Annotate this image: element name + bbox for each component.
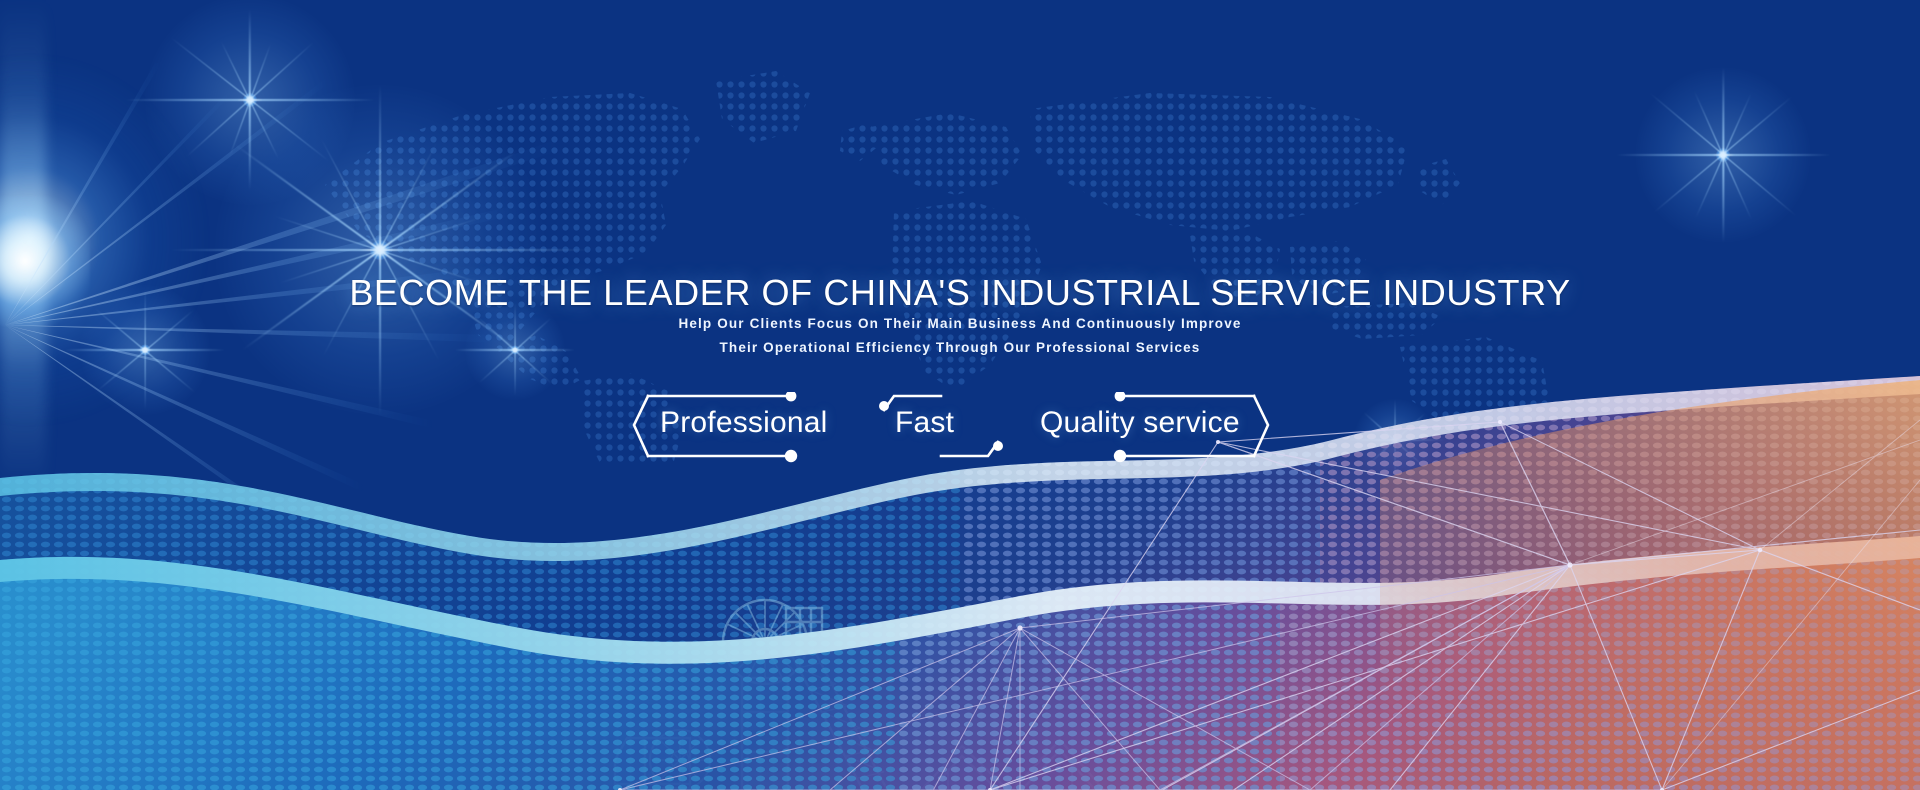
subtitle: Help Our Clients Focus On Their Main Bus… bbox=[0, 312, 1920, 360]
subtitle-line-2: Their Operational Efficiency Through Our… bbox=[0, 336, 1920, 360]
bracket-dot bbox=[993, 441, 1003, 451]
hex-bracket-right-chevron bbox=[1254, 396, 1268, 456]
subtitle-line-1: Help Our Clients Focus On Their Main Bus… bbox=[0, 312, 1920, 336]
bracket-dot bbox=[786, 392, 797, 401]
hex-bracket-left-chevron bbox=[634, 396, 648, 456]
hero-banner: BECOME THE LEADER OF CHINA'S INDUSTRIAL … bbox=[0, 0, 1920, 790]
feature-label-fast: Fast bbox=[895, 406, 954, 440]
feature-list: Professional Fast Quality service bbox=[0, 392, 1920, 464]
banner-content: BECOME THE LEADER OF CHINA'S INDUSTRIAL … bbox=[0, 0, 1920, 790]
bracket-dot bbox=[1114, 450, 1126, 462]
feature-label-professional: Professional bbox=[660, 406, 828, 440]
feature-label-quality-service: Quality service bbox=[1040, 406, 1240, 440]
bracket-dot bbox=[785, 450, 797, 462]
bracket-dot bbox=[879, 401, 889, 411]
corner-bracket-bottom-right bbox=[941, 442, 998, 456]
bracket-dot bbox=[1115, 392, 1126, 401]
page-title: BECOME THE LEADER OF CHINA'S INDUSTRIAL … bbox=[0, 272, 1920, 314]
